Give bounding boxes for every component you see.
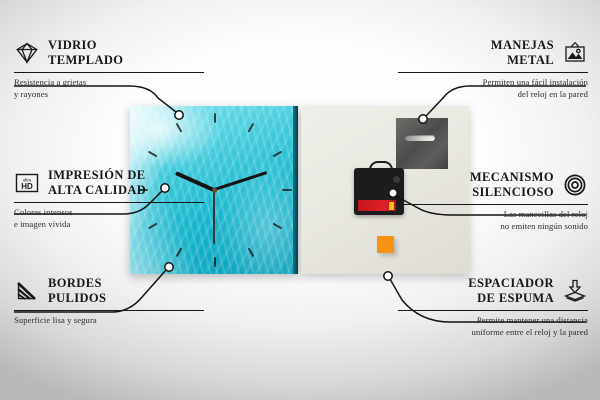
feature-header: VIDRIOTEMPLADO [14, 38, 204, 69]
feature-title: BORDESPULIDOS [48, 276, 106, 307]
clock-tick [248, 248, 255, 258]
feature-divider [398, 72, 588, 74]
feature-description: Superficie lisa y segura [14, 315, 204, 327]
clock-tick [214, 113, 216, 123]
metal-hanger-plate [396, 118, 448, 169]
feature-header: ESPACIADORDE ESPUMA [398, 276, 588, 307]
mechanism-loop [369, 161, 393, 173]
polished-edges-icon [14, 278, 40, 304]
foam-spacer-icon [562, 278, 588, 304]
feature-mecanismo-silencioso: MECANISMOSILENCIOSO Las manecillas del r… [398, 170, 588, 233]
feature-espaciador-espuma: ESPACIADORDE ESPUMA Permite mantener una… [398, 276, 588, 339]
feature-divider [14, 202, 204, 204]
svg-text:HD: HD [21, 182, 33, 191]
feature-divider [398, 310, 588, 312]
feature-title: MECANISMOSILENCIOSO [470, 170, 554, 201]
clock-tick [273, 151, 283, 158]
clock-tick [176, 123, 183, 133]
feature-impresion-alta-calidad: ultra HD IMPRESIÓN DEALTA CALIDAD Colore… [14, 168, 204, 231]
picture-frame-hook-icon [562, 40, 588, 66]
clock-tick [282, 189, 292, 191]
feature-description: Resistencia a grietasy rayones [14, 77, 204, 101]
feature-description: Colores intensose imagen vívida [14, 207, 204, 231]
clock-tick [176, 248, 183, 258]
clock-center-pin [212, 188, 217, 193]
hanger-slot [405, 135, 435, 141]
clock-mechanism [354, 168, 404, 215]
feature-header: MANEJASMETAL [398, 38, 588, 69]
feature-vidrio-templado: VIDRIOTEMPLADO Resistencia a grietasy ra… [14, 38, 204, 101]
product-infographic: VIDRIOTEMPLADO Resistencia a grietasy ra… [0, 0, 600, 400]
feature-divider [14, 72, 204, 74]
gear-icon [562, 172, 588, 198]
feature-bordes-pulidos: BORDESPULIDOS Superficie lisa y segura [14, 276, 204, 327]
clock-tick [148, 151, 158, 158]
feature-divider [14, 310, 204, 312]
feature-description: Las manecillas del relojno emiten ningún… [398, 209, 588, 233]
feature-description: Permiten una fácil instalacióndel reloj … [398, 77, 588, 101]
foam-spacer [377, 236, 394, 253]
feature-header: BORDESPULIDOS [14, 276, 204, 307]
feature-title: ESPACIADORDE ESPUMA [468, 276, 554, 307]
clock-minute-hand [213, 171, 267, 192]
feature-header: MECANISMOSILENCIOSO [398, 170, 588, 201]
feature-description: Permite mantener una distanciauniforme e… [398, 315, 588, 339]
clock-second-hand [213, 190, 214, 244]
clock-tick [273, 223, 283, 230]
clock-tick [214, 257, 216, 267]
feature-divider [398, 204, 588, 206]
feature-header: ultra HD IMPRESIÓN DEALTA CALIDAD [14, 168, 204, 199]
clock-tick [248, 123, 255, 133]
battery-compartment [358, 200, 396, 211]
ultra-hd-icon: ultra HD [14, 170, 40, 196]
feature-title: VIDRIOTEMPLADO [48, 38, 123, 69]
feature-manejas-metal: MANEJASMETAL Permiten una fácil instalac… [398, 38, 588, 101]
diamond-icon [14, 40, 40, 66]
feature-title: MANEJASMETAL [491, 38, 554, 69]
feature-title: IMPRESIÓN DEALTA CALIDAD [48, 168, 146, 199]
